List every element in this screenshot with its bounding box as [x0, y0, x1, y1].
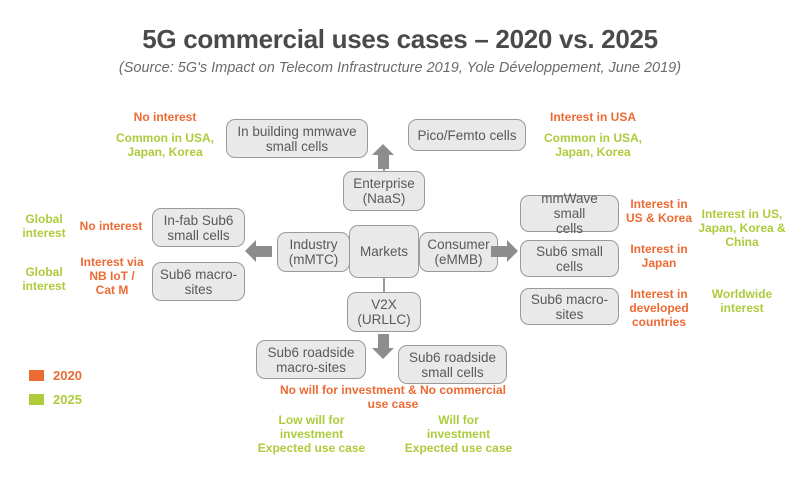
hub-enterprise-line1: Enterprise	[353, 176, 415, 191]
annotation-consumer-row2-2020-line1: Interest in	[624, 242, 694, 256]
annotation-industry-row2-2025: Global interest	[14, 265, 74, 293]
annotation-industry-row2-2020-line2: NB IoT /	[74, 269, 150, 283]
annotation-enterprise-left-2020-line1: No interest	[110, 110, 220, 124]
annotation-industry-row2-2025-line2: interest	[14, 279, 74, 293]
arrow-down-v2x-icon	[372, 334, 395, 359]
node-mmwave-line1: mmWave small	[525, 191, 614, 221]
legend-item-2025: 2025	[29, 392, 82, 407]
node-sub6-roadside-macro-sites[interactable]: Sub6 roadside macro-sites	[256, 340, 366, 379]
annotation-consumer-group-2025-top-line1: Interest in US,	[688, 207, 796, 221]
hub-industry-line1: Industry	[289, 237, 338, 252]
annotation-consumer-row3-2020-line3: countries	[622, 315, 696, 329]
annotation-consumer-group-2025-bottom-line1: Worldwide	[692, 287, 792, 301]
node-mmwave-line2: cells	[525, 221, 614, 236]
annotation-consumer-row2-2020: Interest in Japan	[624, 242, 694, 270]
annotation-consumer-group-2025-bottom-line2: interest	[692, 301, 792, 315]
annotation-consumer-row1-2020: Interest in US & Korea	[624, 197, 694, 225]
annotation-enterprise-right-2025: Common in USA, Japan, Korea	[528, 131, 658, 159]
annotation-v2x-shared-2020: No will for investment & No commercial u…	[228, 383, 558, 411]
node-sub6-small-line1: Sub6 small	[536, 244, 603, 259]
annotation-enterprise-left-2025: Common in USA, Japan, Korea	[102, 131, 228, 159]
legend-label-2025: 2025	[53, 392, 82, 407]
hub-v2x[interactable]: V2X (URLLC)	[347, 292, 421, 332]
annotation-v2x-left-2025-line2: investment	[243, 427, 380, 441]
hub-consumer[interactable]: Consumer (eMMB)	[419, 232, 498, 272]
node-roadside-small-line1: Sub6 roadside	[409, 350, 496, 365]
node-sub6-roadside-small-cells[interactable]: Sub6 roadside small cells	[398, 345, 507, 384]
node-consumer-sub6-macro-sites[interactable]: Sub6 macro- sites	[520, 288, 619, 325]
annotation-v2x-left-2025: Low will for investment Expected use cas…	[243, 413, 380, 455]
node-in-fab-line1: In-fab Sub6	[164, 213, 234, 228]
hub-v2x-line2: (URLLC)	[357, 312, 410, 327]
node-sub6-small-cells[interactable]: Sub6 small cells	[520, 240, 619, 277]
node-pico-femto-label: Pico/Femto cells	[417, 128, 516, 143]
node-roadside-macro-line1: Sub6 roadside	[267, 345, 354, 360]
node-pico-femto-cells[interactable]: Pico/Femto cells	[408, 119, 526, 151]
annotation-consumer-group-2025-top: Interest in US, Japan, Korea & China	[688, 207, 796, 249]
annotation-enterprise-right-2025-line2: Japan, Korea	[528, 145, 658, 159]
hub-enterprise[interactable]: Enterprise (NaaS)	[343, 171, 425, 211]
annotation-industry-row2-2025-line1: Global	[14, 265, 74, 279]
annotation-consumer-row3-2020-line1: Interest in	[622, 287, 696, 301]
arrow-up-enterprise-icon	[372, 144, 395, 169]
annotation-v2x-right-2025: Will for investment Expected use case	[390, 413, 527, 455]
hub-markets[interactable]: Markets	[349, 225, 419, 278]
annotation-v2x-right-2025-line2: investment	[390, 427, 527, 441]
node-industry-sub6-macro-sites[interactable]: Sub6 macro- sites	[152, 262, 245, 301]
node-mmwave-small-cells[interactable]: mmWave small cells	[520, 195, 619, 232]
annotation-v2x-left-2025-line3: Expected use case	[243, 441, 380, 455]
annotation-consumer-row1-2020-line1: Interest in	[624, 197, 694, 211]
annotation-consumer-row3-2020: Interest in developed countries	[622, 287, 696, 329]
node-in-building-mmwave-small-cells[interactable]: In building mmwave small cells	[226, 119, 368, 158]
arrow-right-consumer-icon	[491, 240, 518, 263]
annotation-enterprise-left-2025-line2: Japan, Korea	[102, 145, 228, 159]
annotation-consumer-row1-2020-line2: US & Korea	[624, 211, 694, 225]
annotation-consumer-row2-2020-line2: Japan	[624, 256, 694, 270]
hub-industry[interactable]: Industry (mMTC)	[277, 232, 350, 272]
annotation-v2x-right-2025-line3: Expected use case	[390, 441, 527, 455]
hub-v2x-line1: V2X	[357, 297, 410, 312]
node-sub6-small-line2: cells	[536, 259, 603, 274]
annotation-v2x-shared-2020-line2: use case	[228, 397, 558, 411]
node-consumer-sub6-macro-line2: sites	[531, 307, 608, 322]
connector-hub-v2x	[383, 277, 385, 293]
node-industry-sub6-macro-line2: sites	[160, 282, 237, 297]
arrow-left-industry-icon	[245, 240, 272, 263]
annotation-consumer-row3-2020-line2: developed	[622, 301, 696, 315]
annotation-v2x-shared-2020-line1: No will for investment & No commercial	[228, 383, 558, 397]
node-in-building-line2: small cells	[237, 139, 356, 154]
node-in-building-line1: In building mmwave	[237, 124, 356, 139]
legend-label-2020: 2020	[53, 368, 82, 383]
annotation-industry-row1-2020: No interest	[75, 219, 147, 233]
node-roadside-small-line2: small cells	[409, 365, 496, 380]
annotation-enterprise-right-2020: Interest in USA	[530, 110, 656, 124]
annotation-industry-row2-2020: Interest via NB IoT / Cat M	[74, 255, 150, 297]
annotation-v2x-left-2025-line1: Low will for	[243, 413, 380, 427]
page-subtitle: (Source: 5G's Impact on Telecom Infrastr…	[0, 60, 800, 76]
annotation-industry-row2-2020-line3: Cat M	[74, 283, 150, 297]
annotation-enterprise-left-2020: No interest	[110, 110, 220, 124]
annotation-consumer-group-2025-top-line2: Japan, Korea &	[688, 221, 796, 235]
node-in-fab-line2: small cells	[164, 228, 234, 243]
annotation-industry-row1-2025-line2: interest	[14, 226, 74, 240]
annotation-industry-row1-2020-line1: No interest	[75, 219, 147, 233]
annotation-v2x-right-2025-line1: Will for	[390, 413, 527, 427]
legend-item-2020: 2020	[29, 368, 82, 383]
annotation-enterprise-right-2025-line1: Common in USA,	[528, 131, 658, 145]
annotation-consumer-group-2025-bottom: Worldwide interest	[692, 287, 792, 315]
annotation-consumer-group-2025-top-line3: China	[688, 235, 796, 249]
node-in-fab-sub6-small-cells[interactable]: In-fab Sub6 small cells	[152, 208, 245, 247]
diagram-canvas: 5G commercial uses cases – 2020 vs. 2025…	[0, 0, 800, 487]
node-industry-sub6-macro-line1: Sub6 macro-	[160, 267, 237, 282]
node-roadside-macro-line2: macro-sites	[267, 360, 354, 375]
annotation-industry-row2-2020-line1: Interest via	[74, 255, 150, 269]
hub-markets-label: Markets	[360, 244, 408, 259]
annotation-enterprise-right-2020-line1: Interest in USA	[530, 110, 656, 124]
annotation-industry-row1-2025-line1: Global	[14, 212, 74, 226]
node-consumer-sub6-macro-line1: Sub6 macro-	[531, 292, 608, 307]
hub-enterprise-line2: (NaaS)	[353, 191, 415, 206]
hub-consumer-line2: (eMMB)	[427, 252, 489, 267]
legend-swatch-2025-icon	[29, 394, 44, 405]
hub-consumer-line1: Consumer	[427, 237, 489, 252]
annotation-enterprise-left-2025-line1: Common in USA,	[102, 131, 228, 145]
hub-industry-line2: (mMTC)	[289, 252, 338, 267]
legend-swatch-2020-icon	[29, 370, 44, 381]
page-title: 5G commercial uses cases – 2020 vs. 2025	[0, 24, 800, 55]
annotation-industry-row1-2025: Global interest	[14, 212, 74, 240]
